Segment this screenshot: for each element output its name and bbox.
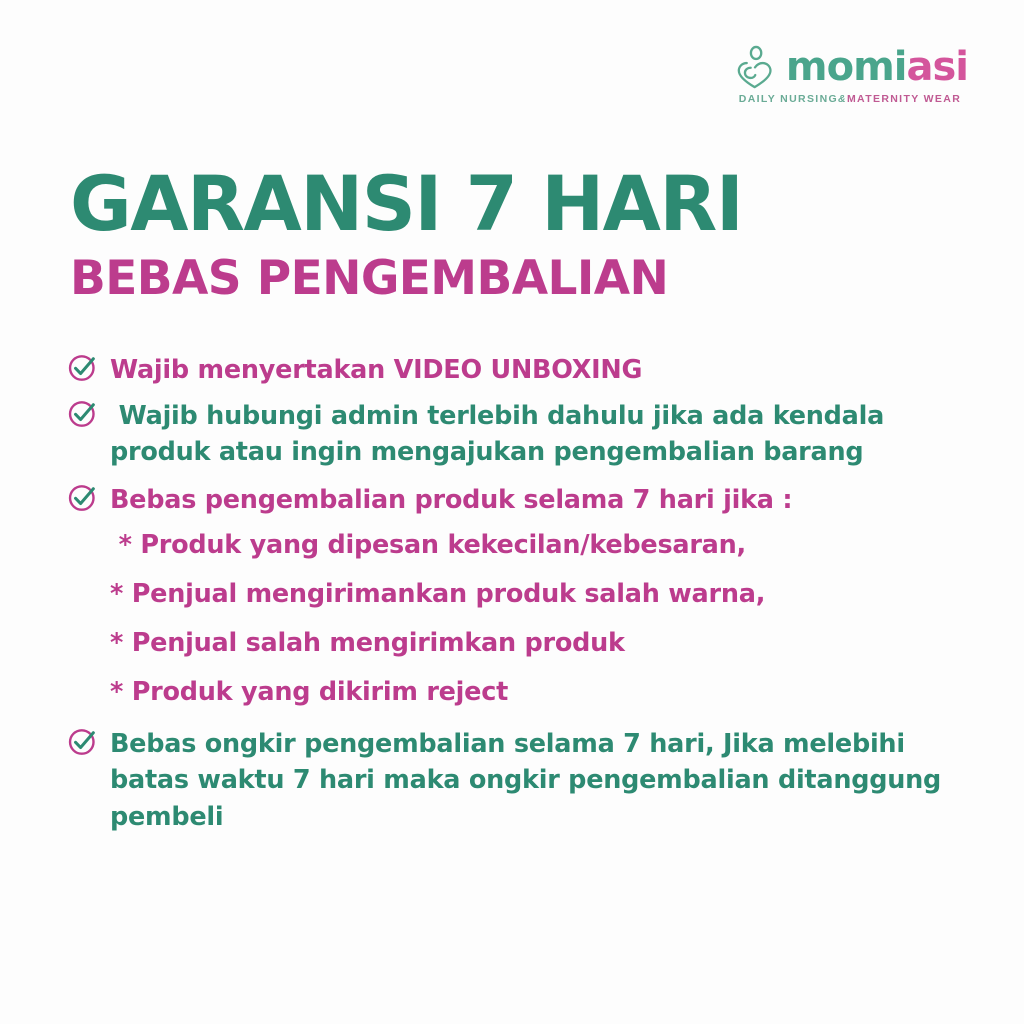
brand-row: momiasi: [732, 44, 968, 90]
brand-tagline-daily-nursing: DAILY NURSING: [739, 93, 838, 105]
mother-and-baby-heart-icon: [732, 44, 778, 90]
list-item-label: Bebas ongkir pengembalian selama 7 hari,…: [110, 726, 976, 836]
sub-list-item: * Produk yang dikirim reject: [110, 668, 976, 717]
headings-block: GARANSI 7 HARI BEBAS PENGEMBALIAN: [70, 168, 749, 302]
sub-list-item: * Produk yang dipesan kekecilan/kebesara…: [110, 521, 976, 570]
brand-tagline-maternity-wear: MATERNITY WEAR: [847, 93, 961, 105]
page-title: GARANSI 7 HARI: [70, 168, 742, 241]
brand-tagline: DAILY NURSING&MATERNITY WEAR: [739, 94, 961, 105]
sub-item-group: * Produk yang dipesan kekecilan/kebesara…: [110, 521, 976, 717]
check-circle-icon: [66, 482, 102, 514]
list-item: Bebas ongkir pengembalian selama 7 hari,…: [66, 726, 976, 836]
list-item: Wajib hubungi admin terlebih dahulu jika…: [66, 398, 976, 471]
brand-logo: momiasi DAILY NURSING&MATERNITY WEAR: [732, 44, 968, 105]
list-item: Bebas pengembalian produk selama 7 hari …: [66, 482, 976, 519]
brand-wordmark-asi: asi: [906, 44, 968, 90]
list-item-label: Wajib hubungi admin terlebih dahulu jika…: [110, 398, 976, 471]
brand-tagline-ampersand: &: [838, 93, 847, 105]
sub-list-item: * Penjual salah mengirimkan produk: [110, 619, 976, 668]
check-circle-icon: [66, 398, 102, 430]
list-item-label: Wajib menyertakan VIDEO UNBOXING: [110, 352, 642, 389]
check-circle-icon: [66, 352, 102, 384]
list-item: Wajib menyertakan VIDEO UNBOXING: [66, 352, 976, 389]
sub-list-item: * Penjual mengirimankan produk salah war…: [110, 570, 976, 619]
brand-wordmark: momiasi: [786, 47, 968, 87]
list-item-label: Bebas pengembalian produk selama 7 hari …: [110, 482, 792, 519]
check-circle-icon: [66, 726, 102, 758]
policy-list: Wajib menyertakan VIDEO UNBOXING Wajib h…: [66, 352, 976, 836]
brand-wordmark-momi: momi: [786, 44, 907, 90]
page-subtitle: BEBAS PENGEMBALIAN: [70, 255, 749, 302]
